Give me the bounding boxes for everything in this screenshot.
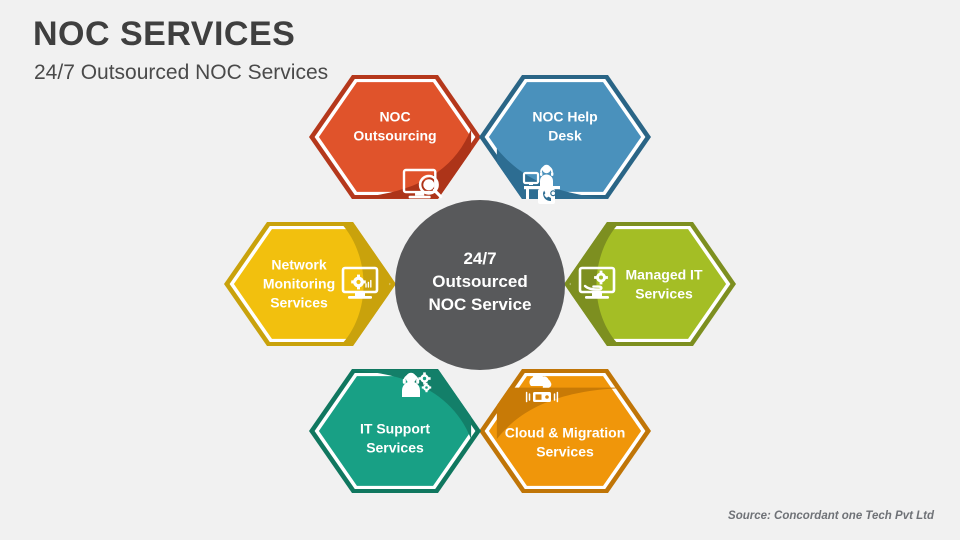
hex-label-noc-outsourcing-line2: Outsourcing (353, 128, 436, 144)
hexagon-wheel-diagram: NOC Outsourcing (0, 0, 960, 540)
hex-label-cloud-migration-services-line1: Cloud & Migration (505, 425, 626, 441)
hex-label-noc-help-desk-line2: Desk (548, 128, 582, 144)
center-label-line2: Outsourced (432, 272, 527, 291)
center-label-line1: 24/7 (463, 249, 496, 268)
hex-label-cloud-migration-services-line2: Services (536, 444, 594, 460)
hex-network-monitoring-services[interactable]: Network Monitoring Services (224, 220, 396, 347)
hex-label-managed-it-services-line1: Managed IT (625, 267, 702, 283)
slide-canvas: NOC SERVICES 24/7 Outsourced NOC Service… (0, 0, 960, 540)
hex-label-noc-help-desk-line1: NOC Help (532, 109, 597, 125)
hex-it-support-services[interactable]: IT Support Services (309, 369, 481, 493)
hex-label-noc-outsourcing-line1: NOC (379, 109, 410, 125)
hex-cloud-migration-services[interactable]: Cloud & Migration Services (479, 369, 651, 493)
hex-noc-help-desk[interactable]: NOC Help Desk (479, 75, 651, 204)
source-credit: Source: Concordant one Tech Pvt Ltd (728, 510, 934, 522)
center-label-line3: NOC Service (429, 295, 532, 314)
hex-label-network-monitoring-services-line3: Services (270, 295, 328, 311)
hex-label-network-monitoring-services-line2: Monitoring (263, 276, 335, 292)
hex-label-network-monitoring-services-line1: Network (271, 257, 326, 273)
hex-label-managed-it-services-line2: Services (635, 286, 693, 302)
hex-managed-it-services[interactable]: Managed IT Services (564, 220, 736, 347)
hex-label-it-support-services-line2: Services (366, 440, 424, 456)
hex-label-it-support-services-line1: IT Support (360, 421, 430, 437)
center-node[interactable]: 24/7 Outsourced NOC Service (395, 200, 565, 370)
